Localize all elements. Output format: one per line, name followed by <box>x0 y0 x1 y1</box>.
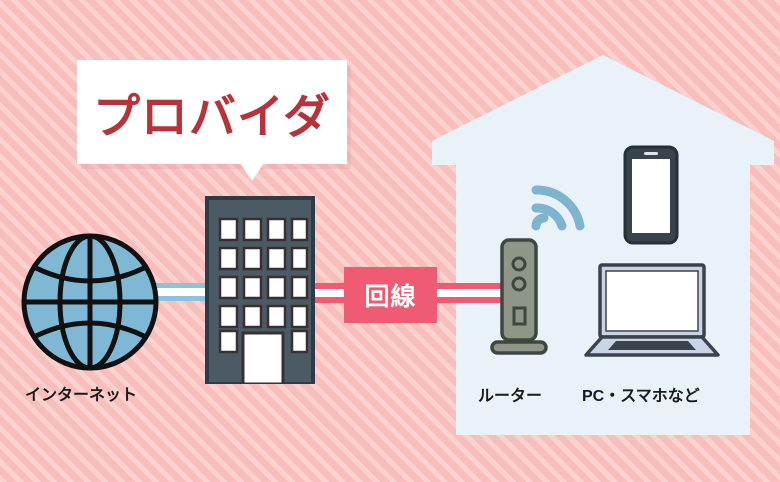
label-devices: PC・スマホなど <box>582 382 700 406</box>
line-badge: 回線 <box>344 267 437 323</box>
provider-callout-tail <box>240 163 264 181</box>
provider-callout: プロバイダ <box>77 60 347 164</box>
label-internet: インターネット <box>25 381 137 405</box>
diagram-canvas: 回線 プロバイダ インターネット ルーター PC・スマホなど <box>0 0 780 482</box>
router-icon <box>490 238 550 356</box>
wifi-icon <box>530 170 592 232</box>
globe-icon <box>20 232 160 372</box>
laptop-icon <box>578 263 724 358</box>
smartphone-icon <box>622 145 680 245</box>
house-icon <box>432 55 774 435</box>
line-badge-label: 回線 <box>364 277 416 313</box>
building-icon <box>205 196 315 384</box>
provider-callout-label: プロバイダ <box>77 60 347 164</box>
label-router: ルーター <box>478 382 542 406</box>
